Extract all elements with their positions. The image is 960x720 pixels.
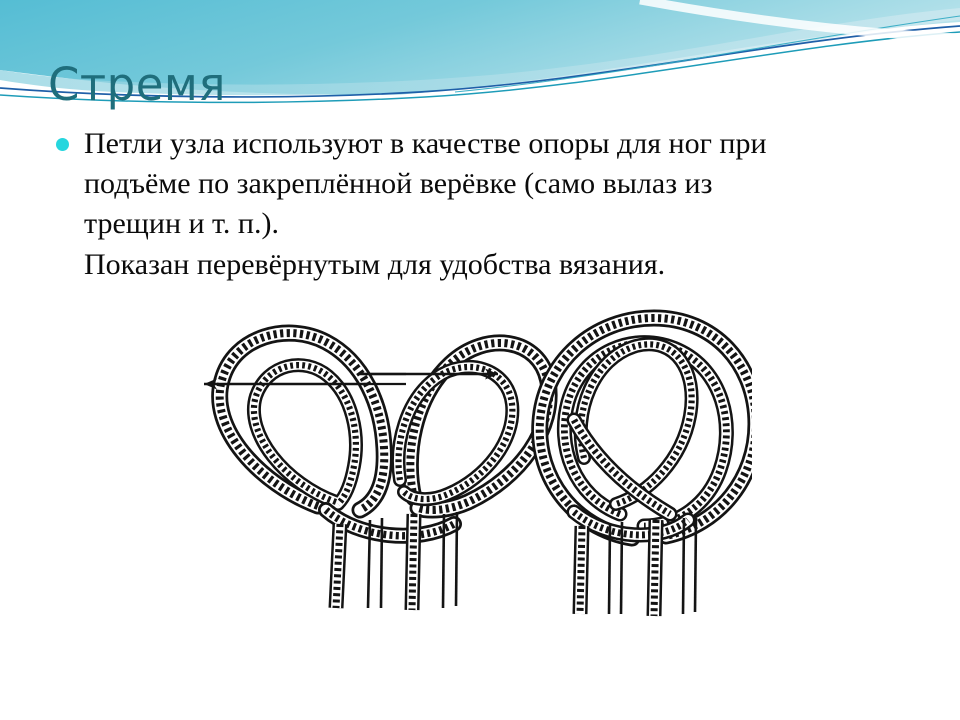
- bullet-item: Петли узла используют в качестве опоры д…: [56, 124, 912, 285]
- stremya-knot-diagram: [168, 288, 752, 624]
- bullet-line-4: Показан перевёрнутым для удобства вязани…: [84, 245, 912, 285]
- bullet-marker-icon: [56, 138, 69, 151]
- bullet-text-body: Петли узла используют в качестве опоры д…: [84, 124, 912, 285]
- bullet-line-2: подъёме по закреплённой верёвке (само вы…: [84, 164, 912, 204]
- page-title: Стремя: [48, 62, 226, 107]
- content-bullet-block: Петли узла используют в качестве опоры д…: [56, 124, 912, 285]
- bullet-line-3: трещин и т. п.).: [84, 204, 912, 244]
- bullet-line-1: Петли узла используют в качестве опоры д…: [84, 124, 912, 164]
